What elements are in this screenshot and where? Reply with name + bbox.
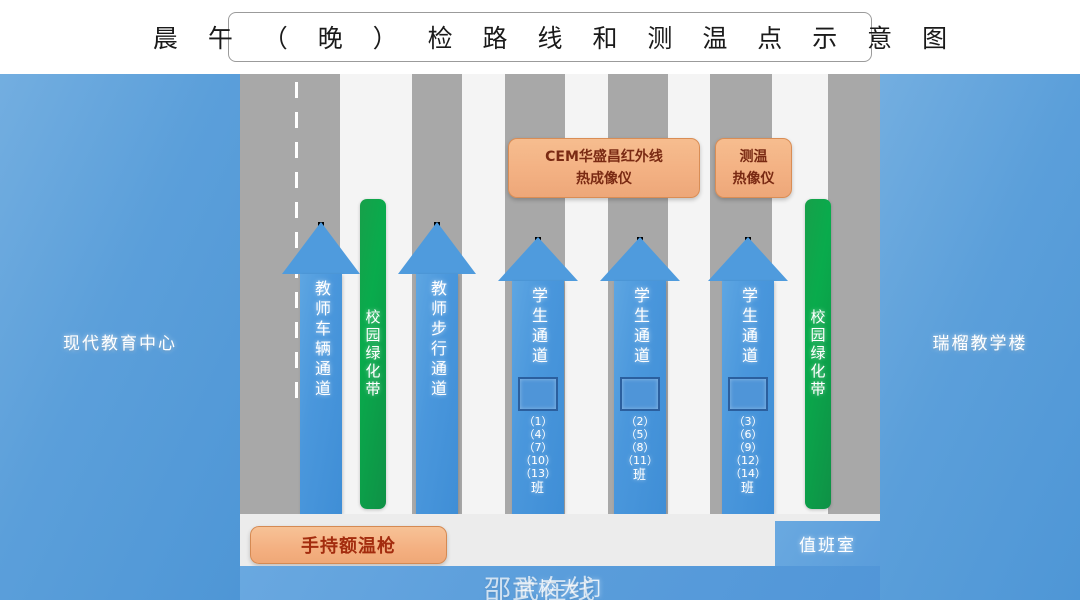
road-lane-6 [828, 74, 880, 519]
callout-line-1: 测温 [740, 146, 768, 168]
handheld-thermometer-label: 手持额温枪 [301, 532, 396, 558]
lane-label-teacher-vehicle: 教师车辆通道 [309, 280, 333, 400]
class-list-3: （3） （6） （9） （12） （14） 班 [730, 415, 766, 495]
callout-line-2: 热成像仪 [576, 168, 632, 190]
callout-thermal-imager-cem[interactable]: CEM华盛昌红外线 热成像仪 [508, 138, 700, 198]
class-item: （12） [730, 454, 766, 467]
lane-arrow-student-2[interactable]: 学生通道 （2） （5） （8） （11） 班 [600, 237, 680, 514]
bottom-edge [0, 600, 1080, 608]
class-suffix: 班 [741, 482, 755, 495]
arrow-shaft: 学生通道 （1） （4） （7） （10） （13） 班 [512, 281, 564, 514]
temperature-sensor-box-3[interactable] [728, 377, 768, 411]
duty-room-box[interactable]: 值班室 [775, 521, 880, 566]
class-item: （1） [524, 415, 553, 428]
green-belt-right-label: 校园绿化带 [808, 309, 829, 399]
class-item: （10） [520, 454, 556, 467]
class-item: （11） [622, 454, 658, 467]
building-left: 现代教育中心 [0, 74, 240, 608]
arrow-shaft: 教师步行通道 [416, 274, 458, 514]
class-item: （6） [734, 428, 763, 441]
green-belt-left: 校园绿化带 [360, 199, 386, 509]
class-item: （14） [730, 467, 766, 480]
class-item: （5） [626, 428, 655, 441]
class-list-2: （2） （5） （8） （11） 班 [622, 415, 658, 482]
class-list-1: （1） （4） （7） （10） （13） 班 [520, 415, 556, 495]
green-belt-right: 校园绿化带 [805, 199, 831, 509]
class-item: （13） [520, 467, 556, 480]
page-title: 晨 午 （ 晚 ） 检 路 线 和 测 温 点 示 意 图 [142, 19, 958, 55]
diagram-stage: 晨 午 （ 晚 ） 检 路 线 和 测 温 点 示 意 图 现代教育中心 瑞榴教… [0, 0, 1080, 608]
green-belt-left-label: 校园绿化带 [363, 309, 384, 399]
lane-arrow-teacher-vehicle[interactable]: 教师车辆通道 [282, 222, 360, 514]
arrow-shaft: 学生通道 （3） （6） （9） （12） （14） 班 [722, 281, 774, 514]
lane-arrow-student-3[interactable]: 学生通道 （3） （6） （9） （12） （14） 班 [708, 237, 788, 514]
lane-arrow-teacher-walk[interactable]: 教师步行通道 [398, 222, 476, 514]
arrow-head-icon [398, 222, 476, 274]
callout-line-1: CEM华盛昌红外线 [545, 146, 663, 168]
temperature-sensor-box-2[interactable] [620, 377, 660, 411]
temperature-sensor-box-1[interactable] [518, 377, 558, 411]
class-item: （8） [626, 441, 655, 454]
class-item: （4） [524, 428, 553, 441]
class-item: （2） [626, 415, 655, 428]
arrow-head-icon [600, 237, 680, 281]
scene: 现代教育中心 瑞榴教学楼 校园绿化带 校园绿化带 [0, 74, 1080, 608]
callout-thermal-imager-2[interactable]: 测温 热像仪 [715, 138, 792, 198]
arrow-head-icon [498, 237, 578, 281]
building-right-label: 瑞榴教学楼 [933, 329, 1028, 354]
title-box: 晨 午 （ 晚 ） 检 路 线 和 测 温 点 示 意 图 [228, 12, 872, 62]
lane-label-student-2: 学生通道 [628, 287, 652, 367]
duty-room-label: 值班室 [799, 531, 856, 556]
arrow-head-icon [708, 237, 788, 281]
arrow-shaft: 学生通道 （2） （5） （8） （11） 班 [614, 281, 666, 514]
class-suffix: 班 [633, 469, 647, 482]
class-item: （7） [524, 441, 553, 454]
arrow-head-icon [282, 222, 360, 274]
building-right: 瑞榴教学楼 [880, 74, 1080, 608]
lane-label-teacher-walk: 教师步行通道 [425, 280, 449, 400]
class-suffix: 班 [531, 482, 545, 495]
building-left-label: 现代教育中心 [63, 329, 177, 354]
lane-label-student-3: 学生通道 [736, 287, 760, 367]
callout-line-2: 热像仪 [733, 168, 775, 190]
title-band: 晨 午 （ 晚 ） 检 路 线 和 测 温 点 示 意 图 [0, 0, 1080, 74]
school-gate-label: 学校大门 [516, 574, 604, 601]
arrow-shaft: 教师车辆通道 [300, 274, 342, 514]
class-item: （9） [734, 441, 763, 454]
handheld-thermometer-box[interactable]: 手持额温枪 [250, 526, 447, 564]
class-item: （3） [734, 415, 763, 428]
lane-arrow-student-1[interactable]: 学生通道 （1） （4） （7） （10） （13） 班 [498, 237, 578, 514]
lane-label-student-1: 学生通道 [526, 287, 550, 367]
